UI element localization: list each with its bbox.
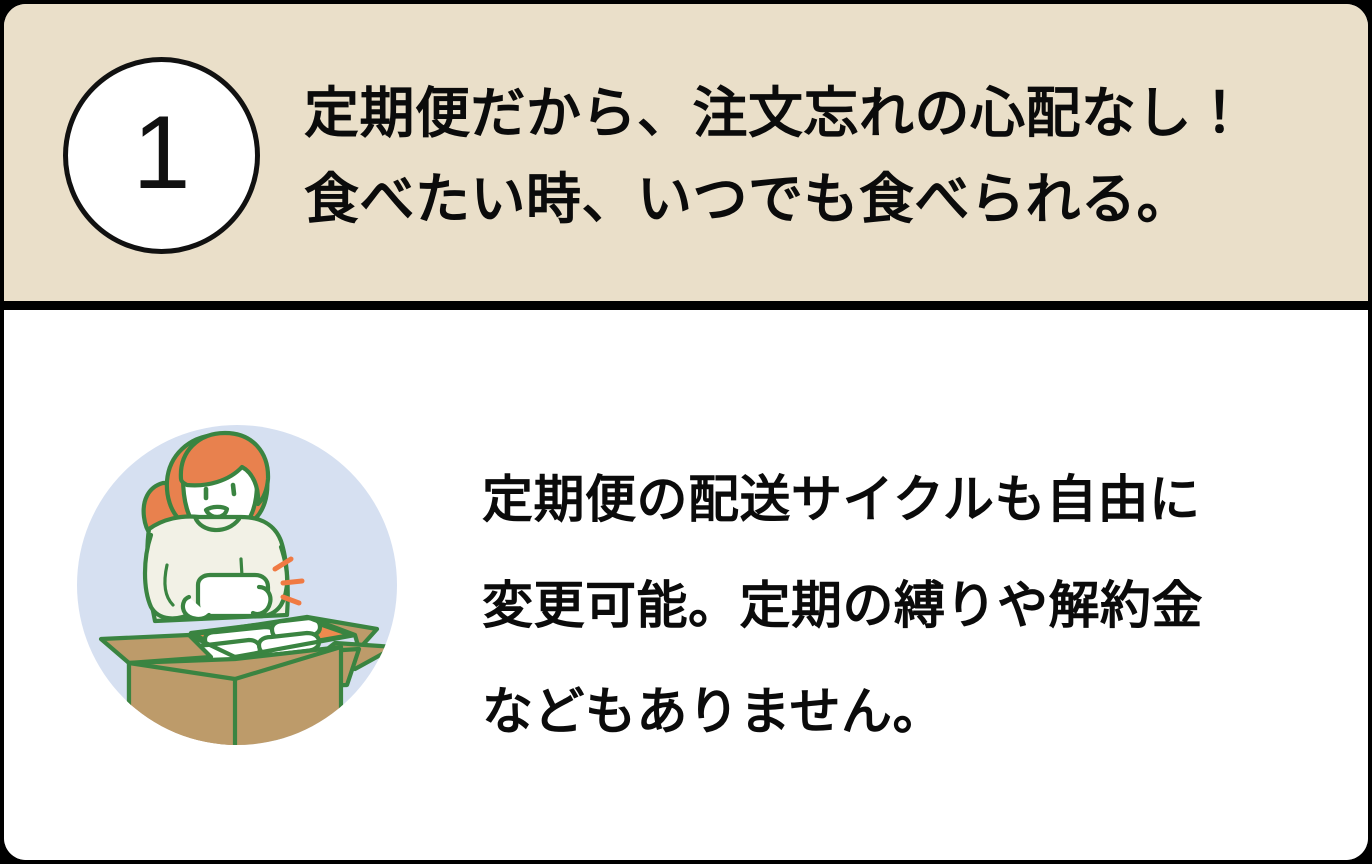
body-copy-line-2: 変更可能。定期の縛りや解約金 [482,553,1312,659]
promo-card: 1 定期便だから、注文忘れの心配なし！ 食べたい時、いつでも食べられる。 [4,4,1368,860]
unboxing-illustration-svg [59,407,415,763]
body-area: 定期便の配送サイクルも自由に 変更可能。定期の縛りや解約金 などもありません。 [4,319,1368,860]
carton-body-front-face [129,663,235,753]
header-band: 1 定期便だから、注文忘れの心配なし！ 食べたい時、いつでも食べられる。 [4,4,1368,310]
step-number-badge: 1 [63,57,260,254]
body-copy-line-3: などもありません。 [482,659,1312,765]
headline: 定期便だから、注文忘れの心配なし！ 食べたい時、いつでも食べられる。 [304,70,1304,242]
body-copy: 定期便の配送サイクルも自由に 変更可能。定期の縛りや解約金 などもありません。 [482,447,1312,765]
eye-right [233,485,234,494]
unboxing-illustration [59,407,415,763]
headline-line-2: 食べたい時、いつでも食べられる。 [304,156,1304,242]
step-number-label: 1 [133,101,191,205]
body-copy-line-1: 定期便の配送サイクルも自由に [482,447,1312,553]
headline-line-1: 定期便だから、注文忘れの心配なし！ [304,70,1304,156]
